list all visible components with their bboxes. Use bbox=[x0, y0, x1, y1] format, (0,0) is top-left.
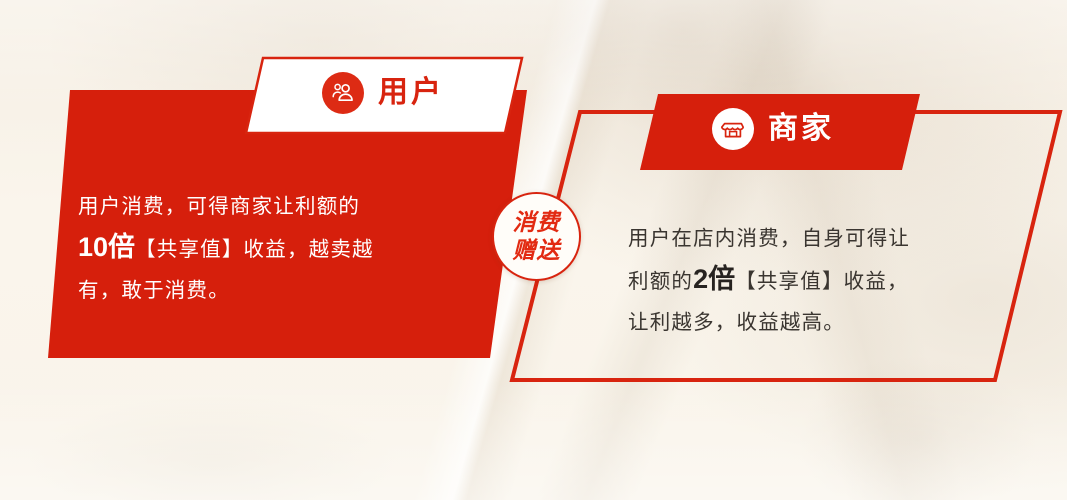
left-body-line3: 有，敢于消费。 bbox=[78, 279, 230, 302]
right-body-line1: 用户在店内消费，自身可得让 bbox=[628, 227, 910, 250]
infographic-canvas: 用户 用户消费，可得商家让利额的 10倍【共享值】收益，越卖越 有，敢于消费。 … bbox=[0, 0, 1067, 500]
left-body-highlight: 10倍 bbox=[78, 232, 135, 262]
right-card-body: 用户在店内消费，自身可得让 利额的2倍【共享值】收益， 让利越多，收益越高。 bbox=[628, 218, 980, 343]
shop-storefront-icon bbox=[712, 108, 754, 150]
left-body-line2: 【共享值】收益，越卖越 bbox=[135, 238, 374, 261]
left-body-line1: 用户消费，可得商家让利额的 bbox=[78, 195, 360, 218]
consumption-gift-badge: 消费 赠送 bbox=[492, 192, 581, 281]
merchant-header-content: 商家 bbox=[712, 108, 834, 150]
users-group-icon bbox=[322, 72, 364, 114]
badge-line-2: 赠送 bbox=[513, 238, 561, 264]
right-body-highlight: 2倍 bbox=[693, 264, 735, 294]
right-body-line2: 利额的 bbox=[628, 270, 693, 293]
user-header-title: 用户 bbox=[378, 78, 444, 108]
badge-line-1: 消费 bbox=[513, 210, 561, 236]
right-body-line3: 【共享值】收益， bbox=[735, 270, 909, 293]
merchant-header-title: 商家 bbox=[768, 114, 834, 144]
user-header-content: 用户 bbox=[322, 72, 444, 114]
right-body-line4: 让利越多，收益越高。 bbox=[628, 311, 845, 334]
left-card-body: 用户消费，可得商家让利额的 10倍【共享值】收益，越卖越 有，敢于消费。 bbox=[78, 186, 450, 311]
